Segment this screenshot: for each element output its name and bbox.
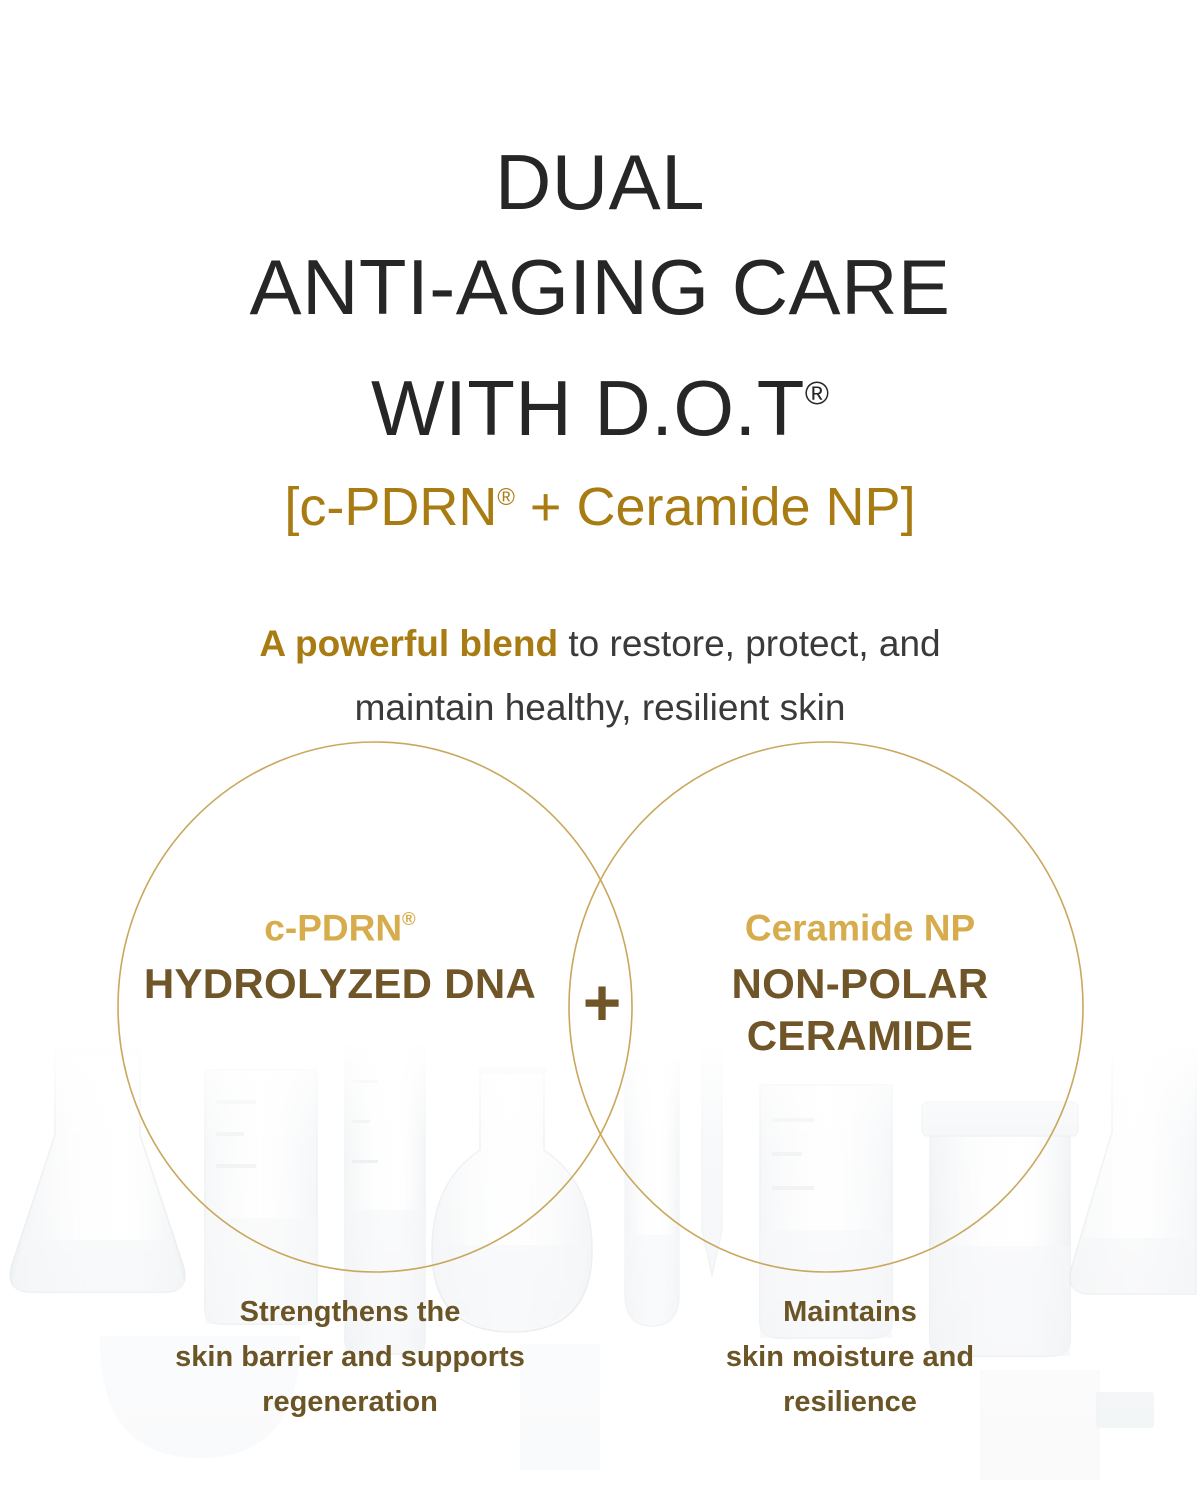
close-bracket: ] (901, 477, 916, 537)
headline-line-1: DUAL (495, 138, 705, 226)
description-paragraph: A powerful blend to restore, protect, an… (0, 612, 1200, 740)
venn-right-subtitle: NON-POLAR CERAMIDE (650, 958, 1070, 1062)
headline-line-2: ANTI-AGING CARE (250, 243, 951, 331)
description-rest: to restore, protect, and (558, 623, 941, 664)
ingredient-formula: [c-PDRN® + Ceramide NP] (0, 462, 1200, 543)
formula-separator: + (515, 477, 577, 537)
venn-left-content: c-PDRN® HYDROLYZED DNA (130, 895, 550, 1010)
venn-left-subtitle: HYDROLYZED DNA (130, 958, 550, 1010)
venn-left-title: c-PDRN® (130, 895, 550, 952)
venn-left-title-text: c-PDRN (264, 908, 402, 949)
registered-trademark-icon: ® (497, 484, 515, 511)
venn-right-title-text: Ceramide NP (745, 908, 975, 949)
venn-right-title: Ceramide NP (650, 895, 1070, 952)
venn-left-caption: Strengthens the skin barrier and support… (120, 1290, 580, 1425)
description-highlight: A powerful blend (259, 623, 558, 664)
page-title: DUALANTI-AGING CAREWITH D.O.T® (0, 130, 1200, 461)
ingredient-two-label: Ceramide NP (576, 477, 900, 537)
plus-icon: + (560, 960, 644, 1044)
registered-trademark-icon: ® (402, 908, 416, 929)
ingredient-one-label: c-PDRN (299, 477, 497, 537)
registered-trademark-icon: ® (805, 374, 829, 411)
headline-line-3: WITH D.O.T (371, 364, 805, 452)
venn-right-caption: Maintains skin moisture and resilience (620, 1290, 1080, 1425)
open-bracket: [ (284, 477, 299, 537)
product-infographic: DUALANTI-AGING CAREWITH D.O.T® [c-PDRN® … (0, 0, 1200, 1500)
description-line-2: maintain healthy, resilient skin (355, 687, 846, 728)
venn-right-content: Ceramide NP NON-POLAR CERAMIDE (650, 895, 1070, 1062)
